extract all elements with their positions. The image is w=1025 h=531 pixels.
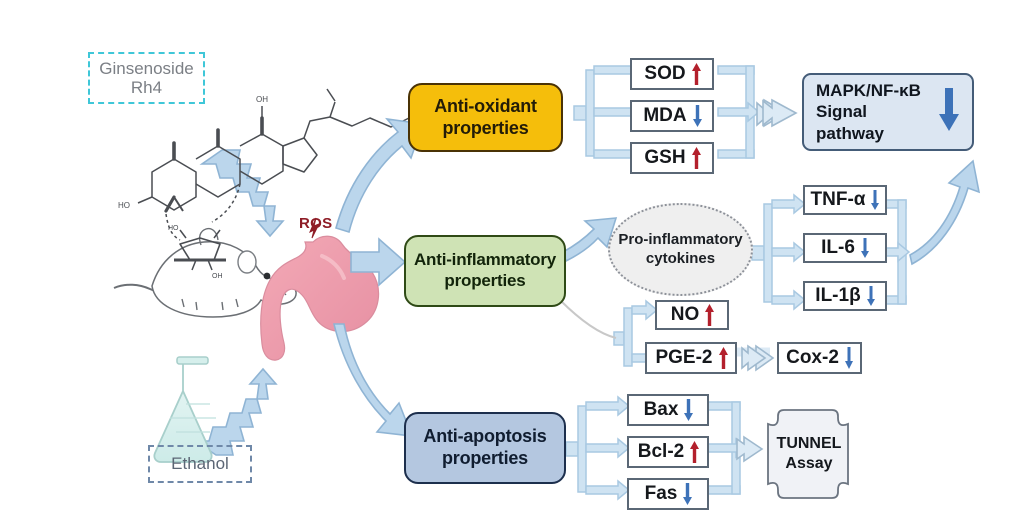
zigzag-arrow-ethanol bbox=[195, 369, 276, 455]
marker-no-label: NO bbox=[671, 304, 700, 326]
anti-oxidant-line1: Anti-oxidant bbox=[434, 96, 537, 116]
marker-gsh-label: GSH bbox=[644, 147, 685, 169]
marker-fas[interactable]: Fas bbox=[627, 478, 709, 510]
marker-pge2-label: PGE-2 bbox=[655, 347, 712, 369]
down-arrow-icon bbox=[682, 482, 691, 506]
marker-il1-beta-label: IL-1β bbox=[815, 285, 860, 307]
cytokines-line1: Pro-inflammatory bbox=[618, 231, 742, 248]
arrow-stomach-to-antiinflammatory bbox=[351, 239, 405, 285]
bracket-cytokine-left bbox=[752, 195, 805, 309]
marker-gsh[interactable]: GSH bbox=[630, 142, 714, 174]
ros-label: ROS bbox=[299, 215, 332, 232]
marker-cox2-label: Cox-2 bbox=[786, 347, 839, 369]
ginsenoside-label-box: Ginsenoside Rh4 bbox=[88, 52, 205, 104]
ginsenoside-line2: Rh4 bbox=[131, 78, 162, 97]
ethanol-label: Ethanol bbox=[171, 454, 229, 473]
marker-sod[interactable]: SOD bbox=[630, 58, 714, 90]
marker-tnf-alpha-label: TNF-α bbox=[811, 189, 866, 211]
stomach-illustration bbox=[261, 236, 379, 360]
svg-text:HO: HO bbox=[118, 201, 130, 210]
marker-bcl2-label: Bcl-2 bbox=[638, 441, 684, 463]
bracket-oxidant-right bbox=[718, 66, 759, 158]
anti-inflammatory-line1: Anti-inflammatory bbox=[414, 250, 556, 269]
tunnel-assay-box[interactable]: TUNNEL Assay bbox=[766, 420, 852, 488]
up-arrow-icon bbox=[691, 62, 700, 86]
marker-fas-label: Fas bbox=[645, 483, 678, 505]
up-arrow-icon bbox=[718, 346, 727, 370]
pathway-line2: Signal pathway bbox=[816, 102, 884, 142]
arrow-cytokines-to-pathway bbox=[910, 161, 979, 264]
bracket-apoptosis-right bbox=[708, 402, 747, 494]
svg-text:HO: HO bbox=[168, 225, 179, 232]
ginsenoside-line1: Ginsenoside bbox=[99, 59, 194, 78]
mapk-nfkb-pathway-box[interactable]: MAPK/NF-κB Signal pathway bbox=[802, 73, 974, 151]
tunnel-line2: Assay bbox=[785, 455, 832, 472]
marker-mda[interactable]: MDA bbox=[630, 100, 714, 132]
ethanol-label-box: Ethanol bbox=[148, 445, 252, 483]
tunnel-line1: TUNNEL bbox=[777, 435, 842, 452]
anti-apoptosis-properties-box[interactable]: Anti-apoptosis properties bbox=[404, 412, 566, 484]
marker-tnf-alpha[interactable]: TNF-α bbox=[803, 185, 887, 215]
bracket-cytokine-right bbox=[884, 200, 909, 304]
anti-oxidant-properties-box[interactable]: Anti-oxidant properties bbox=[408, 83, 563, 152]
anti-inflammatory-line2: properties bbox=[444, 271, 525, 290]
svg-text:OH: OH bbox=[212, 273, 223, 280]
down-arrow-icon bbox=[870, 189, 879, 211]
svg-text:OH: OH bbox=[256, 95, 268, 104]
chemical-structure-rh4: OH HO HO OH bbox=[118, 89, 425, 280]
down-arrow-icon bbox=[860, 237, 869, 259]
marker-sod-label: SOD bbox=[644, 63, 685, 85]
anti-apoptosis-line2: properties bbox=[442, 448, 528, 468]
marker-il6-label: IL-6 bbox=[821, 237, 855, 259]
arrow-apoptosis-to-tunnel bbox=[737, 437, 762, 461]
up-arrow-icon bbox=[689, 440, 698, 464]
marker-bax[interactable]: Bax bbox=[627, 394, 709, 426]
arrow-pge2-to-cox2 bbox=[736, 346, 773, 370]
syringe-icon bbox=[286, 264, 314, 280]
marker-bax-label: Bax bbox=[644, 399, 679, 421]
arrow-inflam-to-mediators bbox=[560, 300, 616, 338]
up-arrow-icon bbox=[704, 303, 713, 327]
down-arrow-icon bbox=[866, 285, 875, 307]
marker-il1-beta[interactable]: IL-1β bbox=[803, 281, 887, 311]
pro-inflammatory-cytokines-node[interactable]: Pro-inflammatory cytokines bbox=[608, 203, 753, 296]
up-arrow-icon bbox=[691, 146, 700, 170]
marker-pge2[interactable]: PGE-2 bbox=[645, 342, 737, 374]
arrow-stomach-to-antiapoptosis bbox=[334, 324, 412, 436]
arrow-oxidant-to-pathway bbox=[757, 100, 796, 126]
marker-cox2[interactable]: Cox-2 bbox=[777, 342, 862, 374]
mouse-illustration bbox=[114, 229, 296, 317]
pathway-line1: MAPK/NF-κB bbox=[816, 81, 921, 100]
anti-oxidant-line2: properties bbox=[442, 118, 528, 138]
marker-mda-label: MDA bbox=[643, 105, 686, 127]
cytokines-line2: cytokines bbox=[646, 250, 715, 267]
marker-bcl2[interactable]: Bcl-2 bbox=[627, 436, 709, 468]
anti-apoptosis-line1: Anti-apoptosis bbox=[423, 426, 546, 446]
diagram-canvas: OH HO HO OH bbox=[0, 0, 1025, 531]
down-arrow-icon bbox=[692, 104, 701, 128]
zigzag-arrow-ginsenoside bbox=[202, 150, 283, 236]
marker-no[interactable]: NO bbox=[655, 300, 729, 330]
marker-il6[interactable]: IL-6 bbox=[803, 233, 887, 263]
down-arrow-icon bbox=[844, 346, 853, 370]
bracket-apoptosis-left bbox=[566, 397, 629, 499]
down-arrow-icon bbox=[683, 398, 692, 422]
anti-inflammatory-properties-box[interactable]: Anti-inflammatory properties bbox=[404, 235, 566, 307]
down-arrow-icon bbox=[938, 86, 960, 137]
